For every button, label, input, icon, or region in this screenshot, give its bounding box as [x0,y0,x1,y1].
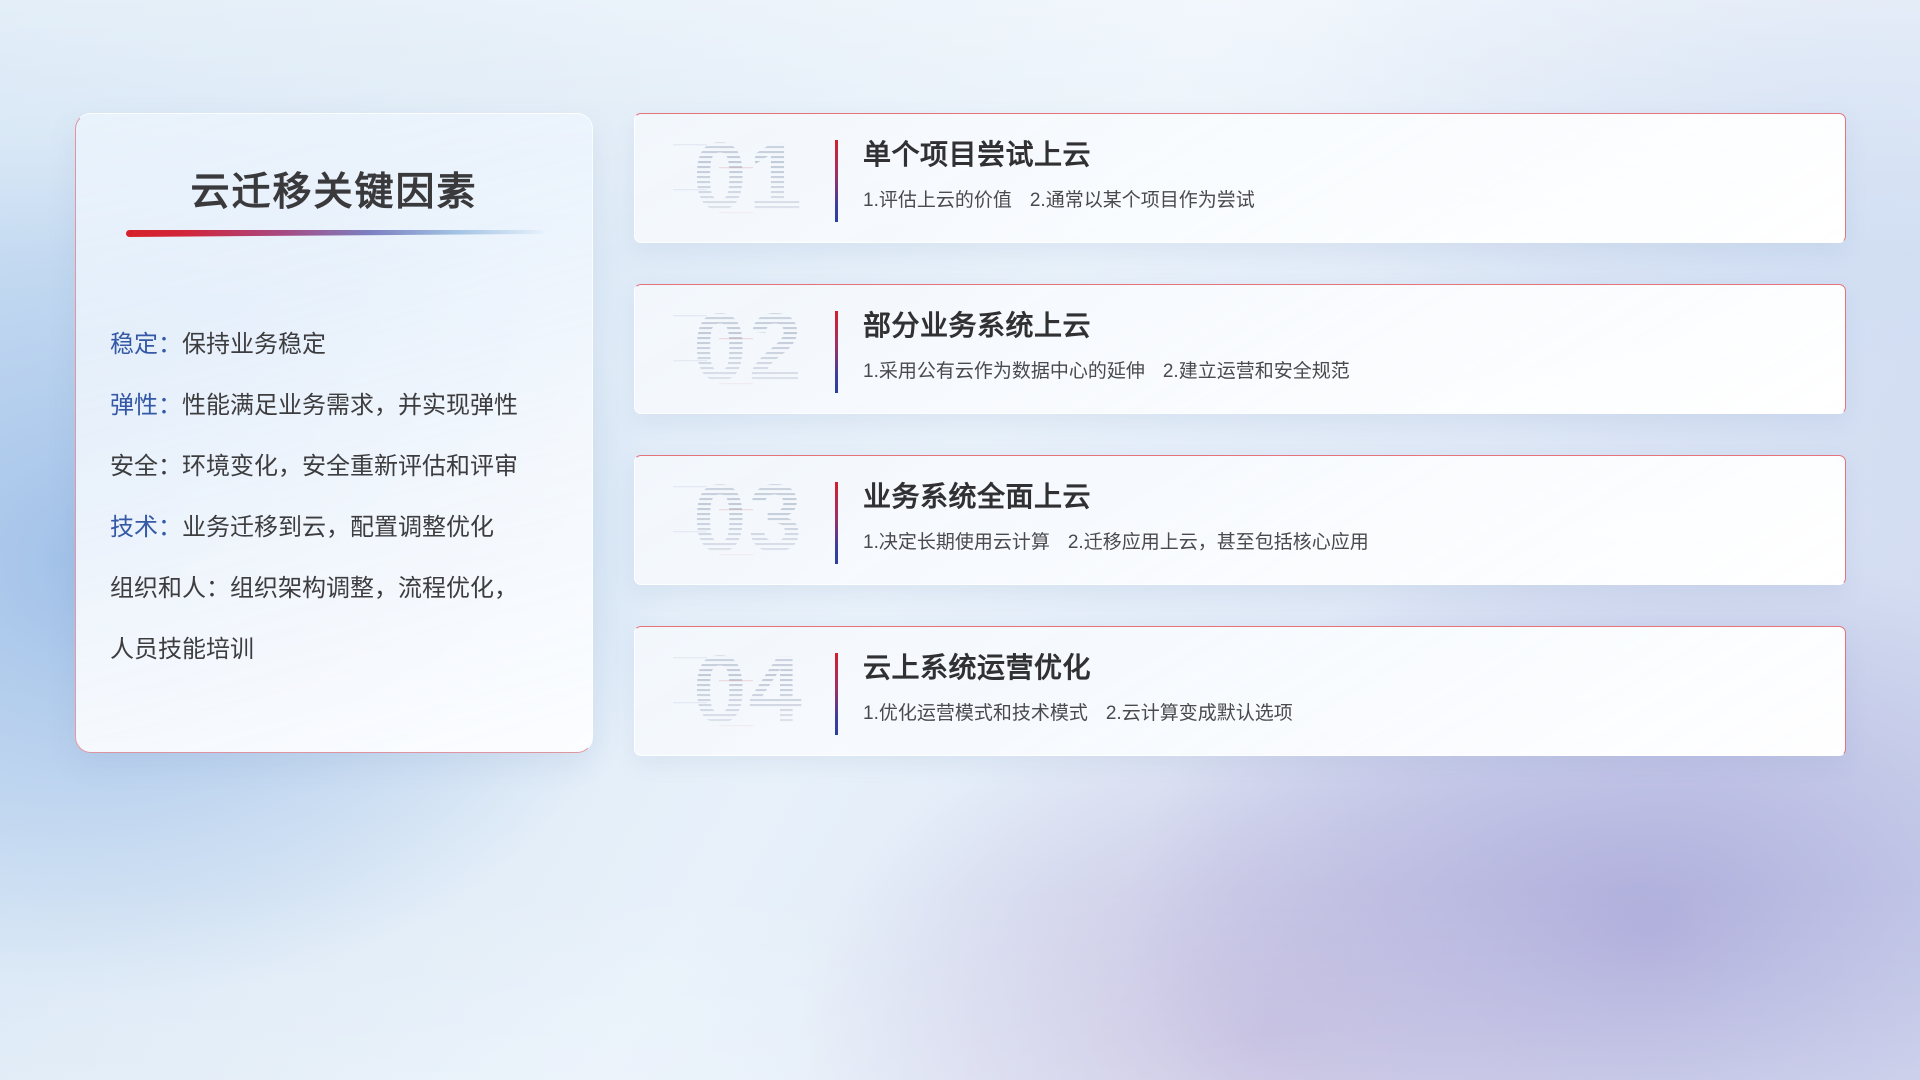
card-subtitle: 1.采用公有云作为数据中心的延伸2.建立运营和安全规范 [863,359,1825,385]
stage-number-03-icon: 03 [661,468,836,572]
page-title: 云迁移关键因素 [76,161,592,217]
stage-card[interactable]: 02 部分业务系统上云 1.采用公有云作为数据中心的延伸2.建立运营和安全规范 [634,284,1846,414]
card-point: 1.采用公有云作为数据中心的延伸 [863,361,1145,382]
card-point: 1.评估上云的价值 [863,190,1012,211]
svg-text:04: 04 [693,639,804,743]
stage-card[interactable]: 04 云上系统运营优化 1.优化运营模式和技术模式2.云计算变成默认选项 [634,626,1846,756]
svg-text:02: 02 [693,297,804,401]
factor-row: 组织和人：组织架构调整，流程优化， [110,558,574,619]
card-title: 云上系统运营优化 [863,649,1825,687]
stage-card[interactable]: 01 单个项目尝试上云 1.评估上云的价值2.通常以某个项目作为尝试 [634,113,1846,243]
factor-label: 技术： [110,514,182,541]
title-underline-rule [126,230,544,237]
stage-card-list: 01 单个项目尝试上云 1.评估上云的价值2.通常以某个项目作为尝试 02 部分… [634,113,1846,756]
factor-text: 保持业务稳定 [182,331,326,358]
factor-row: 弹性：性能满足业务需求，并实现弹性 [110,375,574,436]
card-point: 1.决定长期使用云计算 [863,532,1050,553]
key-factors-panel: 云迁移关键因素 稳定：保持业务稳定 弹性：性能满足业务需求，并实现弹性 安全：环… [75,113,593,753]
card-title: 部分业务系统上云 [863,307,1825,345]
card-title: 单个项目尝试上云 [863,136,1825,174]
factor-row: 安全：环境变化，安全重新评估和评审 [110,436,574,497]
card-subtitle: 1.优化运营模式和技术模式2.云计算变成默认选项 [863,701,1825,727]
card-subtitle: 1.决定长期使用云计算2.迁移应用上云，甚至包括核心应用 [863,530,1825,556]
card-point: 2.迁移应用上云，甚至包括核心应用 [1068,532,1369,553]
factor-text: 环境变化，安全重新评估和评审 [182,453,518,480]
card-divider [835,653,838,735]
card-point: 2.云计算变成默认选项 [1106,703,1293,724]
factor-row: 人员技能培训 [110,619,574,680]
factor-text: 业务迁移到云，配置调整优化 [182,514,494,541]
card-point: 2.建立运营和安全规范 [1163,361,1350,382]
factor-label: 安全： [110,453,182,480]
factor-text: 人员技能培训 [110,636,254,663]
factor-row: 技术：业务迁移到云，配置调整优化 [110,497,574,558]
slide-canvas: 云迁移关键因素 稳定：保持业务稳定 弹性：性能满足业务需求，并实现弹性 安全：环… [0,0,1920,1080]
card-point: 2.通常以某个项目作为尝试 [1030,190,1255,211]
stage-number-04-icon: 04 [661,639,836,743]
factor-row: 稳定：保持业务稳定 [110,314,574,375]
factor-text: 性能满足业务需求，并实现弹性 [182,392,518,419]
stage-number-01-icon: 01 [661,126,836,230]
card-point: 1.优化运营模式和技术模式 [863,703,1088,724]
svg-text:03: 03 [693,468,804,572]
stage-card[interactable]: 03 业务系统全面上云 1.决定长期使用云计算2.迁移应用上云，甚至包括核心应用 [634,455,1846,585]
card-title: 业务系统全面上云 [863,478,1825,516]
factor-label: 组织和人： [110,575,230,602]
card-divider [835,311,838,393]
stage-number-02-icon: 02 [661,297,836,401]
svg-text:01: 01 [693,126,804,230]
card-divider [835,140,838,222]
card-divider [835,482,838,564]
card-subtitle: 1.评估上云的价值2.通常以某个项目作为尝试 [863,188,1825,214]
factor-label: 弹性： [110,392,182,419]
factor-text: 组织架构调整，流程优化， [230,575,518,602]
factor-list: 稳定：保持业务稳定 弹性：性能满足业务需求，并实现弹性 安全：环境变化，安全重新… [110,314,574,680]
factor-label: 稳定： [110,331,182,358]
